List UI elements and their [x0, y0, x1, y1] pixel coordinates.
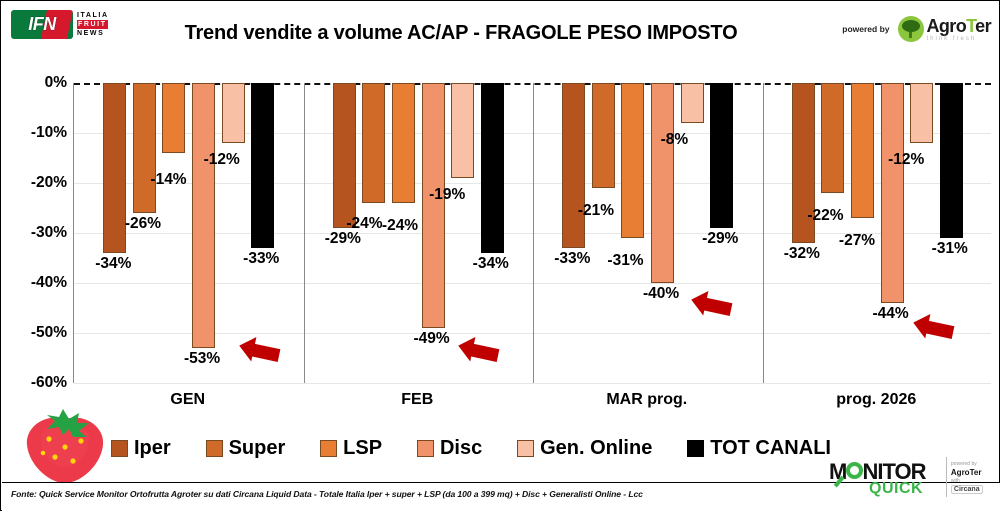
- bar-value-label: -29%: [702, 230, 738, 248]
- y-axis-tick-label: -30%: [3, 224, 67, 242]
- gridline: [74, 383, 991, 384]
- bar-value-label: -24%: [346, 215, 382, 233]
- bar-group: -33%-21%-31%-40%-8%-29%: [533, 83, 763, 383]
- credits-powered-label: powered by: [951, 461, 993, 467]
- legend-label: Gen. Online: [540, 437, 652, 460]
- monitor-quick-wordmark: MONITOR QUICK: [829, 455, 942, 499]
- source-note: Fonte: Quick Service Monitor Ortofrutta …: [11, 489, 811, 499]
- legend-item-disc[interactable]: Disc: [417, 437, 482, 460]
- bar-disc-gen[interactable]: [192, 83, 215, 348]
- chart-legend: IperSuperLSPDiscGen. OnlineTOT CANALI: [111, 433, 831, 463]
- bar-value-label: -34%: [95, 255, 131, 273]
- bar-value-label: -27%: [839, 232, 875, 250]
- y-axis-tick-label: -20%: [3, 174, 67, 192]
- chart-plot-area: -34%-26%-14%-53%-12%-33%-29%-24%-24%-49%…: [73, 83, 991, 383]
- agroter-wordmark: AgroTer think fresh: [927, 17, 992, 42]
- y-axis-tick-label: 0%: [3, 74, 67, 92]
- bar-iper-feb[interactable]: [333, 83, 356, 228]
- ifn-logo-mark: IFN: [11, 10, 73, 39]
- credits-with-label: with: [951, 478, 993, 484]
- tree-leaf: [902, 20, 920, 32]
- legend-item-iper[interactable]: Iper: [111, 437, 171, 460]
- tree-icon: [898, 16, 924, 42]
- arrow-feb-disc-icon: [456, 334, 502, 364]
- bar-tot-canali-prog-2026[interactable]: [940, 83, 963, 238]
- legend-item-lsp[interactable]: LSP: [320, 437, 382, 460]
- bar-lsp-gen[interactable]: [162, 83, 185, 153]
- legend-swatch: [687, 440, 704, 457]
- ifn-word-fruit: FRUIT: [77, 20, 108, 29]
- bar-value-label: -31%: [607, 252, 643, 270]
- bar-tot-canali-feb[interactable]: [481, 83, 504, 253]
- credits-brand: AgroTer: [951, 468, 993, 477]
- legend-swatch: [517, 440, 534, 457]
- arrow-gen-disc-icon: [237, 334, 283, 364]
- bar-super-gen[interactable]: [133, 83, 156, 213]
- bar-super-prog-2026[interactable]: [821, 83, 844, 193]
- legend-item-gen-online[interactable]: Gen. Online: [517, 437, 652, 460]
- bar-super-feb[interactable]: [362, 83, 385, 203]
- bar-value-label: -12%: [888, 151, 924, 169]
- bar-value-label: -53%: [184, 350, 220, 368]
- agroter-tagline: think fresh: [927, 36, 992, 42]
- bar-disc-prog-2026[interactable]: [881, 83, 904, 303]
- strawberry-icon: [19, 405, 111, 485]
- bar-lsp-prog-2026[interactable]: [851, 83, 874, 218]
- bar-tot-canali-gen[interactable]: [251, 83, 274, 248]
- bar-value-label: -19%: [429, 186, 465, 204]
- legend-label: Super: [229, 437, 286, 460]
- bar-value-label: -32%: [784, 245, 820, 263]
- credits-partner: Circana: [951, 485, 983, 494]
- ifn-logo-words: ITALIA FRUIT NEWS: [77, 10, 109, 39]
- x-axis-label-feb: FEB: [303, 391, 533, 409]
- y-axis-tick-label: -40%: [3, 274, 67, 292]
- legend-label: Iper: [134, 437, 171, 460]
- quick-text: QUICK: [869, 480, 923, 498]
- ifn-logo-text: IFN: [11, 10, 73, 39]
- bar-disc-mar-prog-[interactable]: [651, 83, 674, 283]
- arrow-2026-disc-icon: [911, 311, 957, 341]
- bar-value-label: -44%: [873, 305, 909, 323]
- bar-value-label: -34%: [473, 255, 509, 273]
- bar-value-label: -31%: [932, 240, 968, 258]
- legend-swatch: [206, 440, 223, 457]
- legend-item-tot-canali[interactable]: TOT CANALI: [687, 437, 831, 460]
- bar-iper-mar-prog-[interactable]: [562, 83, 585, 248]
- bar-value-label: -33%: [554, 250, 590, 268]
- legend-swatch: [417, 440, 434, 457]
- legend-label: LSP: [343, 437, 382, 460]
- bar-lsp-feb[interactable]: [392, 83, 415, 203]
- bar-value-label: -21%: [578, 202, 614, 220]
- bar-gen-online-mar-prog-[interactable]: [681, 83, 704, 123]
- legend-label: Disc: [440, 437, 482, 460]
- bar-value-label: -12%: [204, 151, 240, 169]
- chart-header: IFN ITALIA FRUIT NEWS Trend vendite a vo…: [1, 1, 1000, 63]
- bar-value-label: -49%: [414, 330, 450, 348]
- bar-value-label: -8%: [661, 131, 689, 149]
- ifn-word-news: NEWS: [77, 29, 109, 38]
- bar-value-label: -33%: [243, 250, 279, 268]
- bar-gen-online-feb[interactable]: [451, 83, 474, 178]
- magnifier-icon: [846, 462, 863, 479]
- y-axis: 0%-10%-20%-30%-40%-50%-60%: [1, 83, 67, 383]
- bar-value-label: -26%: [125, 215, 161, 233]
- x-axis-label-gen: GEN: [73, 391, 303, 409]
- bar-disc-feb[interactable]: [422, 83, 445, 328]
- agroter-name: AgroTer: [927, 17, 992, 35]
- bar-value-label: -40%: [643, 285, 679, 303]
- legend-swatch: [111, 440, 128, 457]
- bar-value-label: -14%: [150, 171, 186, 189]
- page-title: Trend vendite a volume AC/AP - FRAGOLE P…: [151, 22, 771, 45]
- ifn-word-italia: ITALIA: [77, 11, 109, 20]
- bar-iper-gen[interactable]: [103, 83, 126, 253]
- bar-value-label: -24%: [382, 217, 418, 235]
- monitor-quick-credits: powered by AgroTer with Circana: [946, 457, 993, 497]
- bar-gen-online-gen[interactable]: [222, 83, 245, 143]
- arrow-mar-disc-icon: [689, 288, 735, 318]
- y-axis-tick-label: -50%: [3, 324, 67, 342]
- x-axis-label-mar-prog-: MAR prog.: [532, 391, 762, 409]
- powered-by-agroter: powered by AgroTer think fresh: [842, 13, 991, 45]
- agroter-logo: AgroTer think fresh: [898, 16, 992, 42]
- bar-lsp-mar-prog-[interactable]: [621, 83, 644, 238]
- bar-value-label: -22%: [807, 207, 843, 225]
- bar-super-mar-prog-[interactable]: [592, 83, 615, 188]
- legend-label: TOT CANALI: [710, 437, 831, 460]
- ifn-logo: IFN ITALIA FRUIT NEWS: [11, 8, 115, 40]
- y-axis-tick-label: -10%: [3, 124, 67, 142]
- y-axis-tick-label: -60%: [3, 374, 67, 392]
- bar-group: -32%-22%-27%-44%-12%-31%: [763, 83, 993, 383]
- legend-swatch: [320, 440, 337, 457]
- legend-item-super[interactable]: Super: [206, 437, 286, 460]
- powered-by-label: powered by: [842, 24, 889, 34]
- x-axis-label-prog-2026: prog. 2026: [762, 391, 992, 409]
- bar-gen-online-prog-2026[interactable]: [910, 83, 933, 143]
- monitor-quick-logo: MONITOR QUICK powered by AgroTer with Ci…: [829, 453, 993, 501]
- bar-tot-canali-mar-prog-[interactable]: [710, 83, 733, 228]
